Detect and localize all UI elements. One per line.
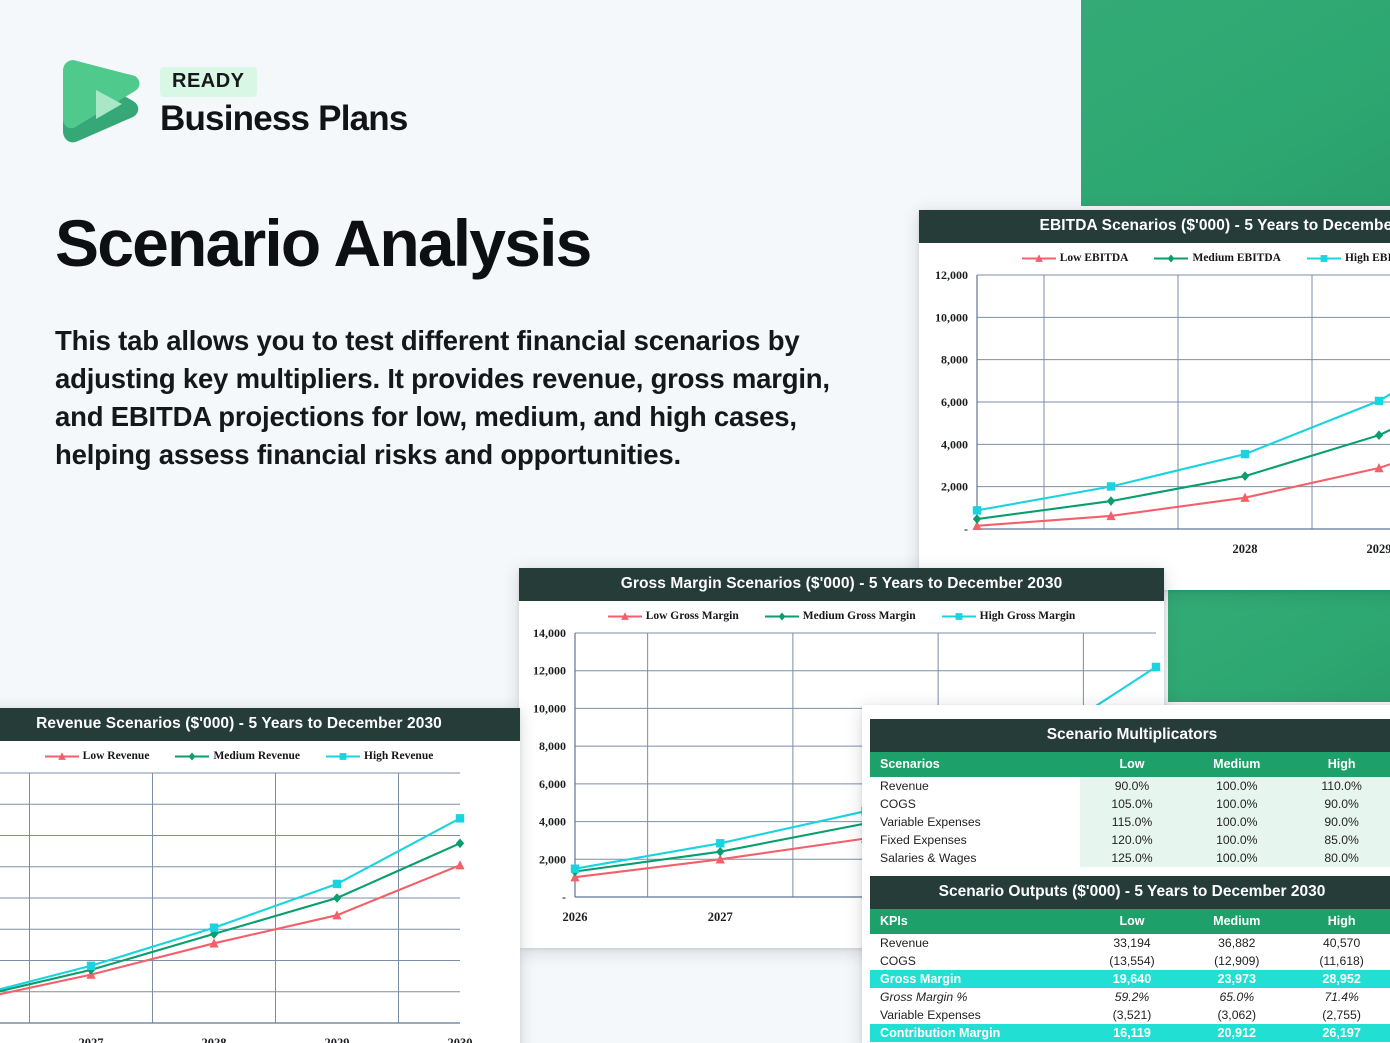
col-header-scenarios: Scenarios	[870, 752, 1080, 777]
row-label: COGS	[870, 952, 1080, 970]
legend-label: High EBITDA	[1345, 252, 1390, 264]
chart-legend-ebitda: Low EBITDA Medium EBITDA High EBITDA	[919, 243, 1390, 267]
legend-item-1: Medium Revenue	[175, 750, 300, 762]
cell-high: 40,570	[1289, 934, 1390, 952]
row-label: Variable Expenses	[870, 813, 1080, 831]
col-header-medium: Medium	[1184, 909, 1289, 934]
col-header-high: High	[1289, 752, 1390, 777]
cell-low: 33,194	[1080, 934, 1185, 952]
cell-low: 125.0%	[1080, 849, 1185, 867]
cell-high: 90.0%	[1289, 795, 1390, 813]
legend-swatch-triangle-icon	[608, 611, 642, 622]
cell-medium: (3,062)	[1184, 1006, 1289, 1024]
table-row: Gross Margin % 59.2% 65.0% 71.4%	[870, 988, 1390, 1006]
cell-medium: 65.0%	[1184, 988, 1289, 1006]
cell-low: 90.0%	[1080, 777, 1185, 795]
cell-medium: 36,882	[1184, 934, 1289, 952]
svg-text:2029: 2029	[1367, 542, 1390, 556]
ready-badge: READY	[160, 67, 257, 97]
svg-text:14,000: 14,000	[533, 626, 566, 640]
cell-medium: 100.0%	[1184, 795, 1289, 813]
outputs-table: KPIs Low Medium High Revenue 33,194 36,8…	[870, 909, 1390, 1043]
svg-text:2027: 2027	[708, 910, 733, 924]
table-row: Variable Expenses (3,521) (3,062) (2,755…	[870, 1006, 1390, 1024]
play-triangle-logo-icon	[55, 57, 143, 147]
svg-text:4,000: 4,000	[539, 815, 566, 829]
col-header-low: Low	[1080, 909, 1185, 934]
cell-high: 90.0%	[1289, 813, 1390, 831]
decor-green-block-middle	[1168, 589, 1390, 702]
legend-label: Medium EBITDA	[1192, 252, 1281, 264]
chart-card-ebitda: EBITDA Scenarios ($'000) - 5 Years to De…	[919, 210, 1390, 590]
legend-swatch-square-icon	[942, 611, 976, 622]
svg-text:-: -	[964, 522, 968, 536]
decor-green-block-top	[1081, 0, 1390, 206]
cell-low: 120.0%	[1080, 831, 1185, 849]
legend-item-2: High EBITDA	[1307, 252, 1390, 264]
cell-medium: (12,909)	[1184, 952, 1289, 970]
col-header-kpis: KPIs	[870, 909, 1080, 934]
legend-item-2: High Revenue	[326, 750, 433, 762]
row-label: COGS	[870, 795, 1080, 813]
legend-swatch-square-icon	[326, 751, 360, 762]
legend-label: Low Revenue	[83, 750, 150, 762]
row-label: Contribution Margin	[870, 1024, 1080, 1042]
multiplicators-table: Scenarios Low Medium High Revenue 90.0% …	[870, 752, 1390, 867]
row-label: Salaries & Wages	[870, 849, 1080, 867]
table-header-row: Scenarios Low Medium High	[870, 752, 1390, 777]
legend-swatch-triangle-icon	[1022, 253, 1056, 264]
scenario-tables-card: Scenario Multiplicators Scenarios Low Me…	[862, 705, 1390, 1043]
scenario-analysis-slide: READY Business Plans Scenario Analysis T…	[0, 0, 1390, 1043]
chart-title-gross-margin: Gross Margin Scenarios ($'000) - 5 Years…	[519, 568, 1164, 601]
table-row: Revenue 33,194 36,882 40,570	[870, 934, 1390, 952]
table-header-row: KPIs Low Medium High	[870, 909, 1390, 934]
svg-text:8,000: 8,000	[539, 739, 566, 753]
cell-low: 59.2%	[1080, 988, 1185, 1006]
table-row: Revenue 90.0% 100.0% 110.0%	[870, 777, 1390, 795]
page-description: This tab allows you to test different fi…	[55, 322, 855, 474]
cell-medium: 100.0%	[1184, 777, 1289, 795]
cell-low: (13,554)	[1080, 952, 1185, 970]
cell-low: 115.0%	[1080, 813, 1185, 831]
svg-text:12,000: 12,000	[533, 664, 566, 678]
legend-label: Medium Revenue	[213, 750, 300, 762]
legend-item-1: Medium Gross Margin	[765, 610, 916, 622]
legend-label: High Gross Margin	[980, 610, 1076, 622]
svg-text:2027: 2027	[79, 1036, 104, 1043]
cell-high: 28,952	[1289, 970, 1390, 988]
svg-text:6,000: 6,000	[539, 777, 566, 791]
cell-medium: 100.0%	[1184, 813, 1289, 831]
legend-label: High Revenue	[364, 750, 433, 762]
cell-high: 85.0%	[1289, 831, 1390, 849]
svg-text:10,000: 10,000	[935, 310, 968, 324]
row-label: Revenue	[870, 777, 1080, 795]
legend-item-1: Medium EBITDA	[1154, 252, 1281, 264]
legend-item-0: Low Gross Margin	[608, 610, 739, 622]
svg-text:12,000: 12,000	[935, 268, 968, 282]
chart-plot-ebitda: 12,00010,0008,0006,0004,0002,000-2028202…	[919, 267, 1390, 577]
svg-text:8,000: 8,000	[941, 353, 968, 367]
cell-low: 16,119	[1080, 1024, 1185, 1042]
chart-plot-revenue: 20262027202820292030	[0, 765, 520, 1043]
cell-high: 110.0%	[1289, 777, 1390, 795]
table-row: Fixed Expenses 120.0% 100.0% 85.0%	[870, 831, 1390, 849]
cell-low: 19,640	[1080, 970, 1185, 988]
chart-legend-gross-margin: Low Gross Margin Medium Gross Margin Hig…	[519, 601, 1164, 625]
legend-label: Low Gross Margin	[646, 610, 739, 622]
table-row: Variable Expenses 115.0% 100.0% 90.0%	[870, 813, 1390, 831]
cell-medium: 100.0%	[1184, 849, 1289, 867]
legend-item-0: Low Revenue	[45, 750, 150, 762]
cell-high: 71.4%	[1289, 988, 1390, 1006]
svg-text:10,000: 10,000	[533, 701, 566, 715]
multiplicators-banner: Scenario Multiplicators	[870, 719, 1390, 752]
table-row: COGS (13,554) (12,909) (11,618)	[870, 952, 1390, 970]
legend-label: Low EBITDA	[1060, 252, 1129, 264]
svg-text:2029: 2029	[325, 1036, 350, 1043]
cell-high: (11,618)	[1289, 952, 1390, 970]
cell-medium: 100.0%	[1184, 831, 1289, 849]
cell-low: 105.0%	[1080, 795, 1185, 813]
table-row: Gross Margin 19,640 23,973 28,952	[870, 970, 1390, 988]
cell-high: (2,755)	[1289, 1006, 1390, 1024]
svg-text:4,000: 4,000	[941, 437, 968, 451]
svg-text:2028: 2028	[202, 1036, 227, 1043]
outputs-banner: Scenario Outputs ($'000) - 5 Years to De…	[870, 876, 1390, 909]
legend-swatch-square-icon	[1307, 253, 1341, 264]
cell-medium: 23,973	[1184, 970, 1289, 988]
legend-item-0: Low EBITDA	[1022, 252, 1129, 264]
table-row: COGS 105.0% 100.0% 90.0%	[870, 795, 1390, 813]
table-row: Salaries & Wages 125.0% 100.0% 80.0%	[870, 849, 1390, 867]
svg-text:2026: 2026	[563, 910, 588, 924]
cell-high: 26,197	[1289, 1024, 1390, 1042]
brand-logo: READY Business Plans	[55, 57, 408, 147]
chart-legend-revenue: Low Revenue Medium Revenue High Revenue	[0, 741, 520, 765]
page-title: Scenario Analysis	[55, 209, 591, 278]
row-label: Gross Margin %	[870, 988, 1080, 1006]
svg-text:2,000: 2,000	[539, 852, 566, 866]
cell-medium: 20,912	[1184, 1024, 1289, 1042]
table-row: Contribution Margin 16,119 20,912 26,197	[870, 1024, 1390, 1042]
col-header-high: High	[1289, 909, 1390, 934]
svg-text:2030: 2030	[448, 1036, 473, 1043]
col-header-medium: Medium	[1184, 752, 1289, 777]
legend-item-2: High Gross Margin	[942, 610, 1076, 622]
legend-swatch-diamond-icon	[765, 611, 799, 622]
legend-label: Medium Gross Margin	[803, 610, 916, 622]
row-label: Gross Margin	[870, 970, 1080, 988]
svg-text:2028: 2028	[1233, 542, 1258, 556]
chart-card-revenue: Revenue Scenarios ($'000) - 5 Years to D…	[0, 708, 520, 1043]
cell-low: (3,521)	[1080, 1006, 1185, 1024]
svg-text:6,000: 6,000	[941, 395, 968, 409]
legend-swatch-diamond-icon	[175, 751, 209, 762]
row-label: Fixed Expenses	[870, 831, 1080, 849]
legend-swatch-triangle-icon	[45, 751, 79, 762]
svg-text:-: -	[562, 890, 566, 904]
row-label: Revenue	[870, 934, 1080, 952]
cell-high: 80.0%	[1289, 849, 1390, 867]
chart-title-ebitda: EBITDA Scenarios ($'000) - 5 Years to De…	[919, 210, 1390, 243]
brand-name: Business Plans	[160, 101, 408, 138]
col-header-low: Low	[1080, 752, 1185, 777]
legend-swatch-diamond-icon	[1154, 253, 1188, 264]
svg-text:2,000: 2,000	[941, 480, 968, 494]
row-label: Variable Expenses	[870, 1006, 1080, 1024]
chart-title-revenue: Revenue Scenarios ($'000) - 5 Years to D…	[0, 708, 520, 741]
